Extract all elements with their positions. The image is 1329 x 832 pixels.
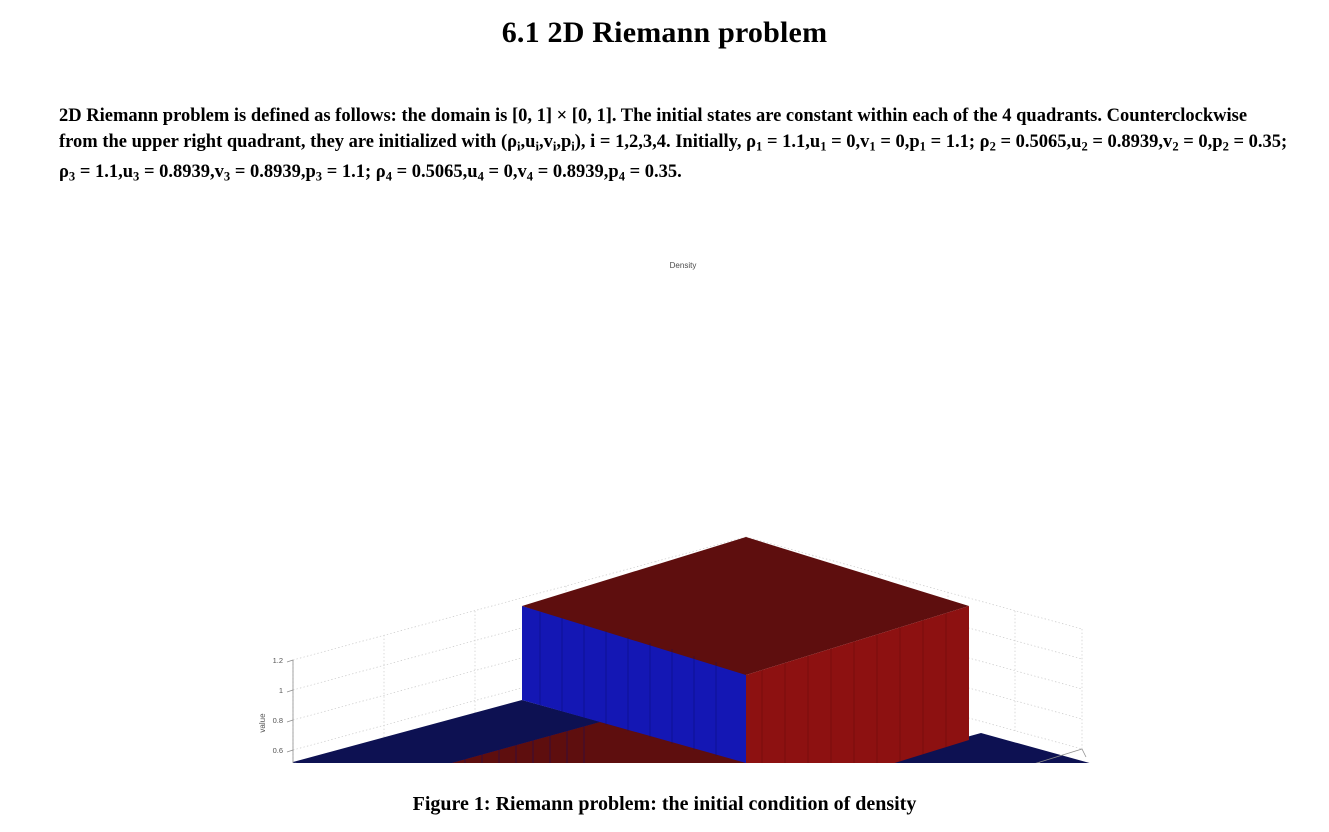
figure-caption: Figure 1: Riemann problem: the initial c… <box>0 793 1329 816</box>
density-surface-plot: 1.2 1 0.8 0.6 0.4 value 1 <box>0 243 1329 763</box>
figure-container: 1.2 1 0.8 0.6 0.4 value 1 <box>0 243 1329 763</box>
z-tick: 1 <box>279 686 283 695</box>
body-paragraph: 2D Riemann problem is defined as follows… <box>59 104 1289 190</box>
z-axis-ticks: 1.2 1 0.8 0.6 0.4 value <box>258 656 293 763</box>
z-axis-label: value <box>258 713 267 733</box>
z-tick: 0.8 <box>273 716 283 725</box>
z-tick: 0.6 <box>273 746 283 755</box>
page-title: 6.1 2D Riemann problem <box>0 16 1329 50</box>
plot-title: Density <box>670 261 697 270</box>
z-tick: 1.2 <box>273 656 283 665</box>
document-page: 6.1 2D Riemann problem 2D Riemann proble… <box>0 0 1329 832</box>
